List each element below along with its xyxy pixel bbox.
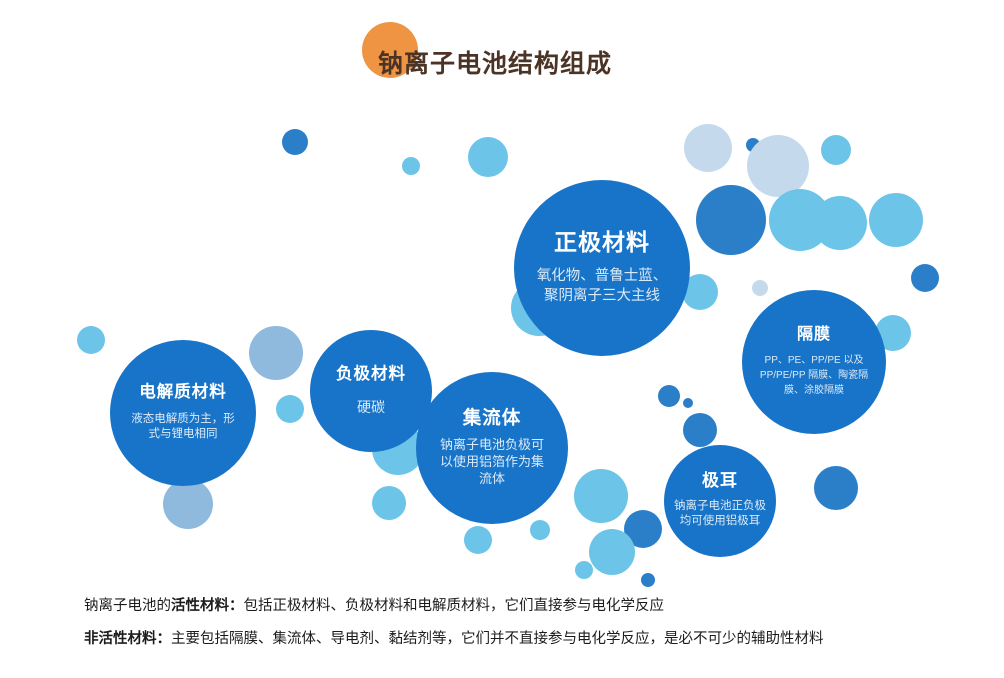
decorative-bubble: [464, 526, 492, 554]
bubble-cathode-desc: 氧化物、普鲁士蓝、聚阴离子三大主线: [536, 267, 668, 306]
footnotes: 钠离子电池的活性材料：包括正极材料、负极材料和电解质材料，它们直接参与电化学反应…: [84, 590, 964, 657]
bubble-current-collector[interactable]: 集流体 钠离子电池负极可以使用铝箔作为集流体: [416, 372, 568, 524]
footnote-inactive-materials: 非活性材料：主要包括隔膜、集流体、导电剂、黏结剂等，它们并不直接参与电化学反应，…: [84, 623, 964, 656]
decorative-bubble: [77, 326, 105, 354]
title-area: 钠离子电池结构组成: [0, 0, 1004, 100]
decorative-bubble: [402, 157, 420, 175]
footnote-2-rest: 主要包括隔膜、集流体、导电剂、黏结剂等，它们并不直接参与电化学反应，是必不可少的…: [171, 631, 824, 647]
bubble-current-collector-title: 集流体: [463, 408, 522, 428]
decorative-bubble: [282, 129, 308, 155]
page-title: 钠离子电池结构组成: [378, 44, 612, 80]
footnote-1-bold: 活性材料：: [171, 598, 244, 614]
bubble-separator-desc: PP、PE、PP/PE 以及PP/PE/PP 隔膜、陶瓷隔膜、涂胶隔膜: [754, 353, 874, 398]
decorative-bubble: [869, 193, 923, 247]
bubble-separator[interactable]: 隔膜 PP、PE、PP/PE 以及PP/PE/PP 隔膜、陶瓷隔膜、涂胶隔膜: [742, 290, 886, 434]
bubble-electrolyte[interactable]: 电解质材料 液态电解质为主，形式与锂电相同: [110, 340, 256, 486]
decorative-bubble: [530, 520, 550, 540]
bubble-anode[interactable]: 负极材料 硬碳: [310, 330, 432, 452]
decorative-bubble: [249, 326, 303, 380]
bubble-diagram: 正极材料 氧化物、普鲁士蓝、聚阴离子三大主线 电解质材料 液态电解质为主，形式与…: [0, 100, 1004, 570]
decorative-bubble: [814, 466, 858, 510]
footnote-2-bold: 非活性材料：: [84, 631, 171, 647]
decorative-bubble: [747, 135, 809, 197]
decorative-bubble: [574, 469, 628, 523]
decorative-bubble: [589, 529, 635, 575]
bubble-tab-desc: 钠离子电池正负极均可使用铝极耳: [673, 499, 767, 530]
footnote-1-rest: 包括正极材料、负极材料和电解质材料，它们直接参与电化学反应: [244, 598, 665, 614]
decorative-bubble: [163, 479, 213, 529]
decorative-bubble: [468, 137, 508, 177]
bubble-current-collector-desc: 钠离子电池负极可以使用铝箔作为集流体: [440, 437, 544, 488]
decorative-bubble: [752, 280, 768, 296]
decorative-bubble: [696, 185, 766, 255]
bubble-anode-title: 负极材料: [336, 365, 406, 383]
decorative-bubble: [683, 398, 693, 408]
bubble-anode-desc: 硬碳: [357, 398, 385, 417]
footnote-1-prefix: 钠离子电池的: [84, 598, 171, 614]
bubble-separator-title: 隔膜: [797, 326, 831, 344]
decorative-bubble: [658, 385, 680, 407]
bubble-cathode-title: 正极材料: [554, 230, 650, 255]
decorative-bubble: [684, 124, 732, 172]
decorative-bubble: [821, 135, 851, 165]
decorative-bubble: [372, 486, 406, 520]
bubble-electrolyte-title: 电解质材料: [139, 383, 227, 401]
bubble-tab[interactable]: 极耳 钠离子电池正负极均可使用铝极耳: [664, 445, 776, 557]
decorative-bubble: [683, 413, 717, 447]
decorative-bubble: [276, 395, 304, 423]
decorative-bubble: [911, 264, 939, 292]
decorative-bubble: [575, 561, 593, 579]
bubble-cathode[interactable]: 正极材料 氧化物、普鲁士蓝、聚阴离子三大主线: [514, 180, 690, 356]
decorative-bubble: [813, 196, 867, 250]
footnote-active-materials: 钠离子电池的活性材料：包括正极材料、负极材料和电解质材料，它们直接参与电化学反应: [84, 590, 964, 623]
bubble-tab-title: 极耳: [702, 472, 738, 491]
decorative-bubble: [641, 573, 655, 587]
bubble-electrolyte-desc: 液态电解质为主，形式与锂电相同: [128, 412, 238, 443]
